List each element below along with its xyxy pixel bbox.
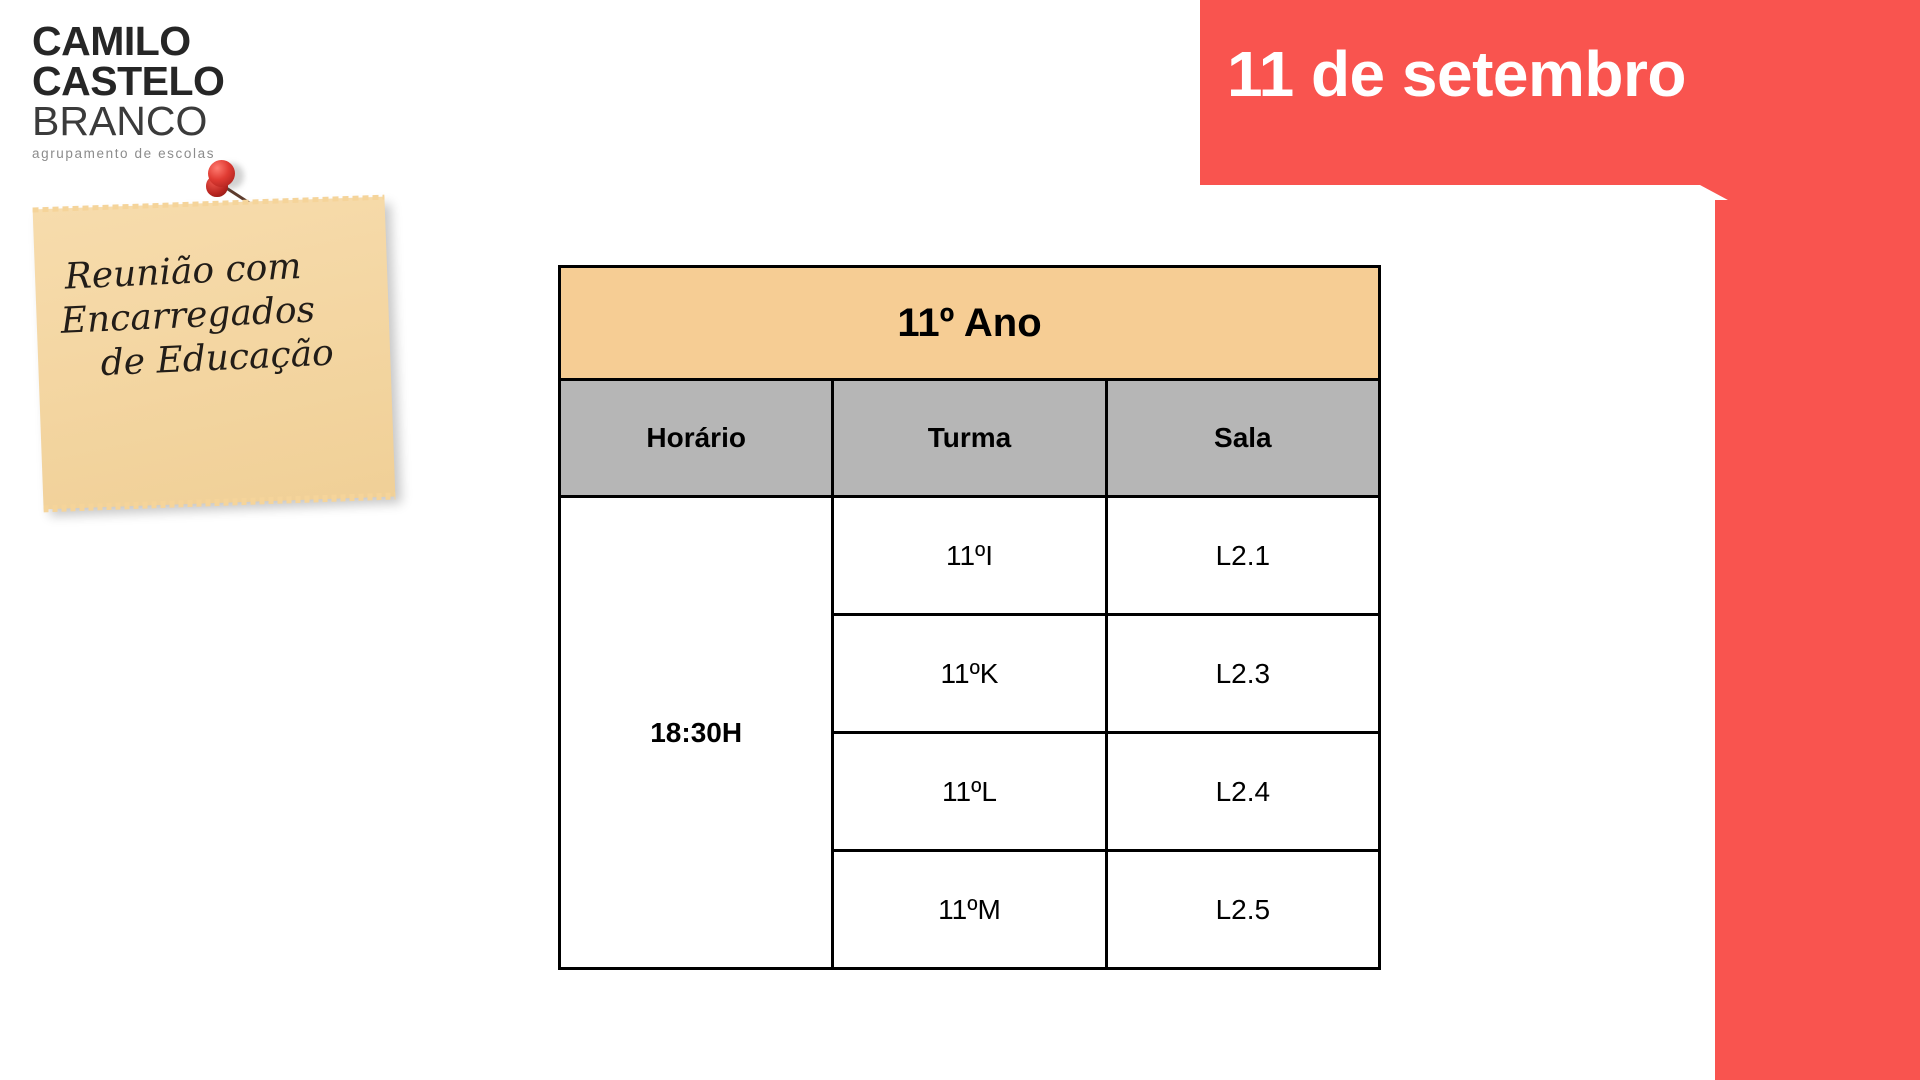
school-logo: CAMILO CASTELO BRANCO agrupamento de esc…: [32, 22, 292, 161]
agenda-date-text: 11 de setembro: [1227, 37, 1907, 111]
note-paper: Reunião com Encarregados de Educação: [33, 197, 396, 510]
cell-sala-4: L2.5: [1106, 851, 1379, 969]
note-text: Reunião com Encarregados de Educação: [34, 241, 392, 389]
table-row: 18:30H 11ºI L2.1: [560, 497, 1380, 615]
table-header-row: Horário Turma Sala: [560, 380, 1380, 497]
agenda-vertical-label: AGENDA: [1510, 200, 1715, 1080]
agenda-side-panel: [1715, 200, 1920, 1080]
cell-turma-4: 11ºM: [833, 851, 1106, 969]
cell-turma-1: 11ºI: [833, 497, 1106, 615]
cell-sala-3: L2.4: [1106, 733, 1379, 851]
pinned-note: Reunião com Encarregados de Educação: [10, 155, 430, 525]
logo-line-branco: BRANCO: [32, 102, 292, 142]
cell-horario-time: 18:30H: [560, 497, 833, 969]
cell-turma-3: 11ºL: [833, 733, 1106, 851]
table-title: 11º Ano: [560, 267, 1380, 380]
cell-sala-1: L2.1: [1106, 497, 1379, 615]
pushpin-head-icon: [208, 160, 235, 187]
cell-turma-2: 11ºK: [833, 615, 1106, 733]
column-header-sala: Sala: [1106, 380, 1379, 497]
schedule-table: 11º Ano Horário Turma Sala 18:30H 11ºI L…: [558, 265, 1381, 970]
cell-sala-2: L2.3: [1106, 615, 1379, 733]
logo-line-castelo: CASTELO: [32, 62, 292, 102]
logo-line-camilo: CAMILO: [32, 22, 292, 62]
table-title-row: 11º Ano: [560, 267, 1380, 380]
column-header-turma: Turma: [833, 380, 1106, 497]
column-header-horario: Horário: [560, 380, 833, 497]
